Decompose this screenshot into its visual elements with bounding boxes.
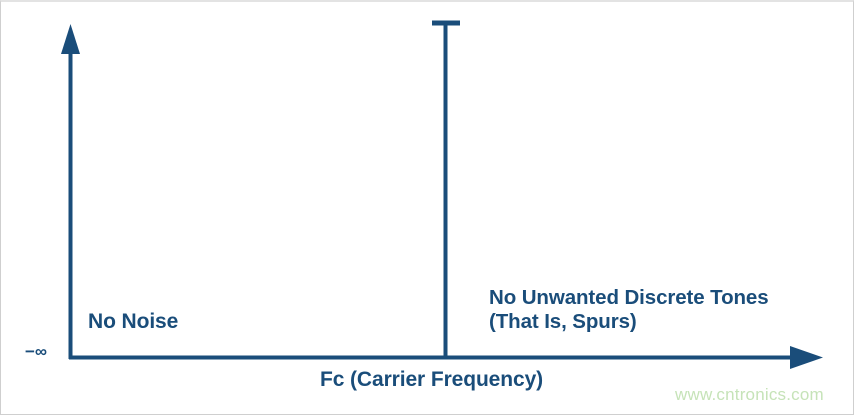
y-axis-tick-label: −∞	[25, 343, 47, 360]
annotation-no-noise: No Noise	[88, 310, 178, 334]
annotation-no-spurs-line2: (That Is, Spurs)	[489, 310, 637, 333]
watermark-text: www.cntronics.com	[675, 385, 824, 405]
annotation-no-spurs-line1: No Unwanted Discrete Tones	[489, 286, 769, 309]
spectrum-plot	[1, 2, 854, 415]
x-axis-label: Fc (Carrier Frequency)	[320, 368, 543, 392]
y-axis-arrow-icon	[61, 24, 80, 54]
carrier-spectrum-figure: −∞ No Noise No Unwanted Discrete Tones(T…	[0, 0, 854, 415]
x-axis-arrow-icon	[790, 346, 823, 369]
annotation-no-spurs: No Unwanted Discrete Tones(That Is, Spur…	[489, 286, 769, 334]
